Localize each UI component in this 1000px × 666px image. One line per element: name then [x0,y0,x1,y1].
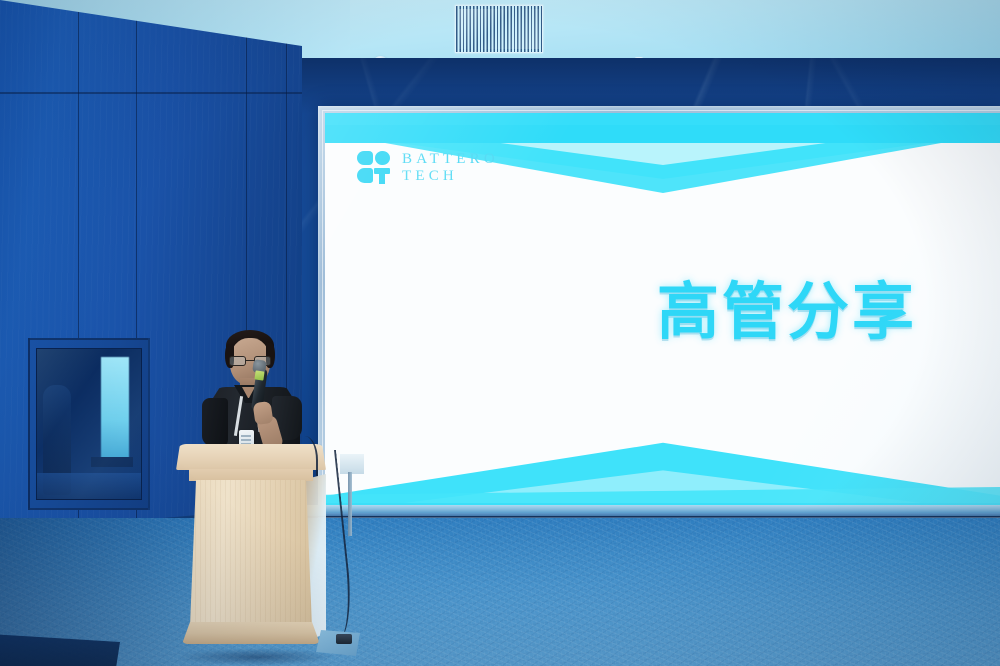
podium-wood-grain [190,480,312,626]
left-wall-interior-window [36,348,142,500]
side-equipment-stand [340,454,364,474]
floor-box-connector [336,634,352,644]
microphone-logo-sticker [254,370,264,380]
chevron-top-edge [325,113,1000,125]
conference-scene: BATTERO TECH 高管分享 [0,0,1000,666]
brand-name-line2: TECH [402,168,499,185]
wall-seam-horizontal [0,92,302,94]
battero-logo-mark-icon [357,151,391,184]
podium-base [182,622,320,644]
slide-headline: 高管分享 [657,261,917,351]
presenter-hand [253,401,274,425]
stand-pole [348,472,352,536]
brand-logo: BATTERO TECH [357,151,499,185]
brand-name-line1: BATTERO [402,151,499,168]
ceiling-air-vent-icon [455,5,543,53]
presenter-left-sleeve [202,398,228,446]
presentation-slide[interactable]: BATTERO TECH 高管分享 [325,113,1000,513]
podium-front-panel [190,480,312,626]
brand-wordmark: BATTERO TECH [402,151,499,185]
window-glass-reflection [37,349,141,499]
